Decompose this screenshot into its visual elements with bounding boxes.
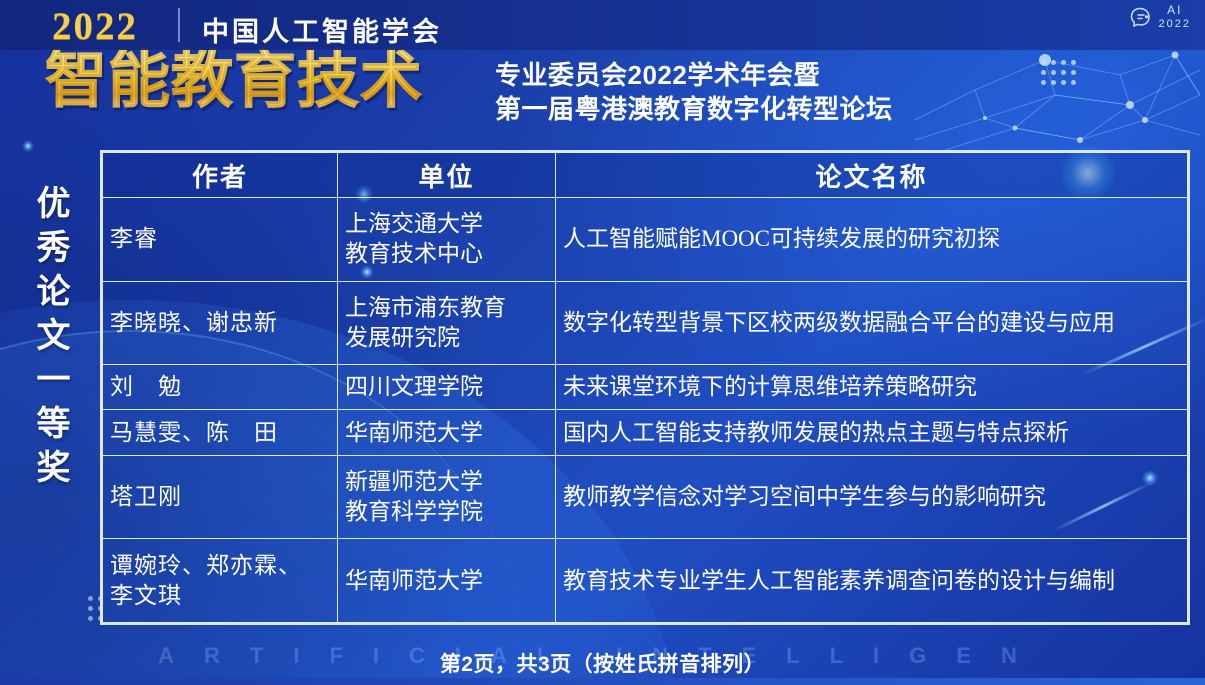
ai-logo-label: AI [1167,4,1182,18]
cell-author: 刘 勉 [103,365,338,410]
event-subtitle-line2: 第一届粤港澳教育数字化转型论坛 [495,92,893,126]
slide-canvas: 2022 中国人工智能学会 智能教育技术 专业委员会2022学术年会暨 第一届粤… [0,0,1205,685]
cell-author: 塔卫刚 [103,455,338,539]
cell-title: 国内人工智能支持教师发展的热点主题与特点探析 [556,410,1188,455]
page-title: 智能教育技术 [45,50,423,112]
cell-author: 李睿 [103,198,338,282]
cell-unit: 华南师范大学 [338,410,556,455]
cell-author: 谭婉玲、郑亦霖、 李文琪 [103,539,338,623]
cell-unit: 四川文理学院 [338,365,556,410]
cell-unit: 上海交通大学 教育技术中心 [338,198,556,282]
cell-title: 数字化转型背景下区校两级数据融合平台的建设与应用 [556,281,1188,365]
table-row: 刘 勉 四川文理学院 未来课堂环境下的计算思维培养策略研究 [103,365,1188,410]
table-row: 谭婉玲、郑亦霖、 李文琪 华南师范大学 教育技术专业学生人工智能素养调查问卷的设… [103,539,1188,623]
header-divider [178,8,180,42]
column-header-author: 作者 [103,153,338,198]
table-row: 李晓晓、谢忠新 上海市浦东教育 发展研究院 数字化转型背景下区校两级数据融合平台… [103,281,1188,365]
dot-grid-decoration [1041,60,1076,85]
cell-unit: 华南师范大学 [338,539,556,623]
cell-title: 人工智能赋能MOOC可持续发展的研究初探 [556,198,1188,282]
footer-bar [0,678,1205,685]
header-bar [0,0,1205,50]
organization-name: 中国人工智能学会 [202,10,442,49]
table-row: 李睿 上海交通大学 教育技术中心 人工智能赋能MOOC可持续发展的研究初探 [103,198,1188,282]
cell-unit: 上海市浦东教育 发展研究院 [338,281,556,365]
event-subtitle-line1: 专业委员会2022学术年会暨 [495,58,893,92]
table-row: 塔卫刚 新疆师范大学 教育科学学院 教师教学信念对学习空间中学生参与的影响研究 [103,455,1188,539]
cell-author: 马慧雯、陈 田 [103,410,338,455]
event-subtitle: 专业委员会2022学术年会暨 第一届粤港澳教育数字化转型论坛 [495,58,893,126]
column-header-title: 论文名称 [556,153,1188,198]
column-header-unit: 单位 [338,153,556,198]
glow-dot-decoration [22,140,34,152]
cell-title: 教师教学信念对学习空间中学生参与的影响研究 [556,455,1188,539]
ai-conference-logo: AI 2022 [1128,4,1191,30]
cell-title: 教育技术专业学生人工智能素养调查问卷的设计与编制 [556,539,1188,623]
event-year: 2022 [52,4,138,49]
table-header-row: 作者 单位 论文名称 [103,153,1188,198]
ai-logo-year: 2022 [1159,18,1191,31]
awards-table-body: 李睿 上海交通大学 教育技术中心 人工智能赋能MOOC可持续发展的研究初探 李晓… [103,198,1188,623]
cell-title: 未来课堂环境下的计算思维培养策略研究 [556,365,1188,410]
awards-table: 作者 单位 论文名称 李睿 上海交通大学 教育技术中心 人工智能赋能MOOC可持… [102,152,1188,623]
cell-author: 李晓晓、谢忠新 [103,281,338,365]
table-row: 马慧雯、陈 田 华南师范大学 国内人工智能支持教师发展的热点主题与特点探析 [103,410,1188,455]
awards-table-container: 作者 单位 论文名称 李睿 上海交通大学 教育技术中心 人工智能赋能MOOC可持… [100,150,1190,625]
cell-unit: 新疆师范大学 教育科学学院 [338,455,556,539]
award-category-label: 优秀论文一等奖 [24,185,76,493]
ai-head-icon [1128,4,1154,30]
page-indicator: 第2页，共3页（按姓氏拼音排列） [0,648,1205,678]
